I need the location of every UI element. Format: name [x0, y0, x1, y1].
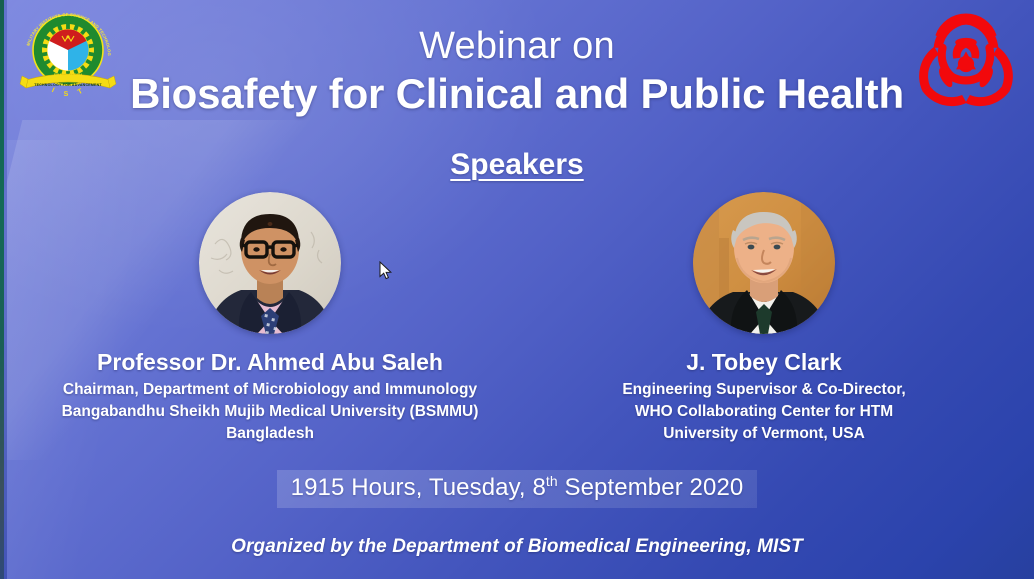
speaker-affiliation-1-line2: Bangabandhu Sheikh Mujib Medical Univers…	[35, 401, 505, 423]
speaker-portrait-2	[693, 192, 835, 334]
speakers-heading: Speakers	[0, 148, 1034, 182]
speaker-name-1: Professor Dr. Ahmed Abu Saleh	[35, 349, 505, 375]
speaker-affiliation-1-line3: Bangladesh	[35, 423, 505, 445]
event-datetime-ordinal: th	[546, 473, 558, 489]
webinar-on-label: Webinar on	[0, 26, 1034, 67]
speaker-affiliation-2-line1: Engineering Supervisor & Co-Director,	[529, 379, 999, 401]
webinar-title: Biosafety for Clinical and Public Health	[0, 69, 1034, 119]
organizer-footer: Organized by the Department of Biomedica…	[0, 536, 1034, 558]
left-edge-strip	[0, 0, 4, 579]
speaker-card-2: J. Tobey Clark Engineering Supervisor & …	[529, 192, 999, 445]
title-block: Webinar on Biosafety for Clinical and Pu…	[0, 26, 1034, 119]
speaker-affiliation-2: Engineering Supervisor & Co-Director, WH…	[529, 379, 999, 444]
event-datetime: 1915 Hours, Tuesday, 8th September 2020	[277, 470, 758, 508]
event-datetime-rest: September 2020	[558, 474, 744, 501]
speaker-affiliation-2-line2: WHO Collaborating Center for HTM	[529, 401, 999, 423]
speaker-card-1: Professor Dr. Ahmed Abu Saleh Chairman, …	[35, 192, 505, 445]
date-row: 1915 Hours, Tuesday, 8th September 2020	[0, 470, 1034, 508]
speaker-affiliation-1: Chairman, Department of Microbiology and…	[35, 379, 505, 444]
speaker-affiliation-1-line1: Chairman, Department of Microbiology and…	[35, 379, 505, 401]
presentation-slide: MILITARY INSTITUTE OF SCIENCE AND TECHNO…	[0, 0, 1034, 579]
left-edge-inner-strip	[4, 0, 7, 579]
speaker-affiliation-2-line3: University of Vermont, USA	[529, 423, 999, 445]
speaker-name-2: J. Tobey Clark	[529, 349, 999, 375]
speaker-portrait-1	[199, 192, 341, 334]
event-datetime-main: 1915 Hours, Tuesday, 8	[291, 474, 546, 501]
speakers-row: Professor Dr. Ahmed Abu Saleh Chairman, …	[0, 192, 1034, 445]
